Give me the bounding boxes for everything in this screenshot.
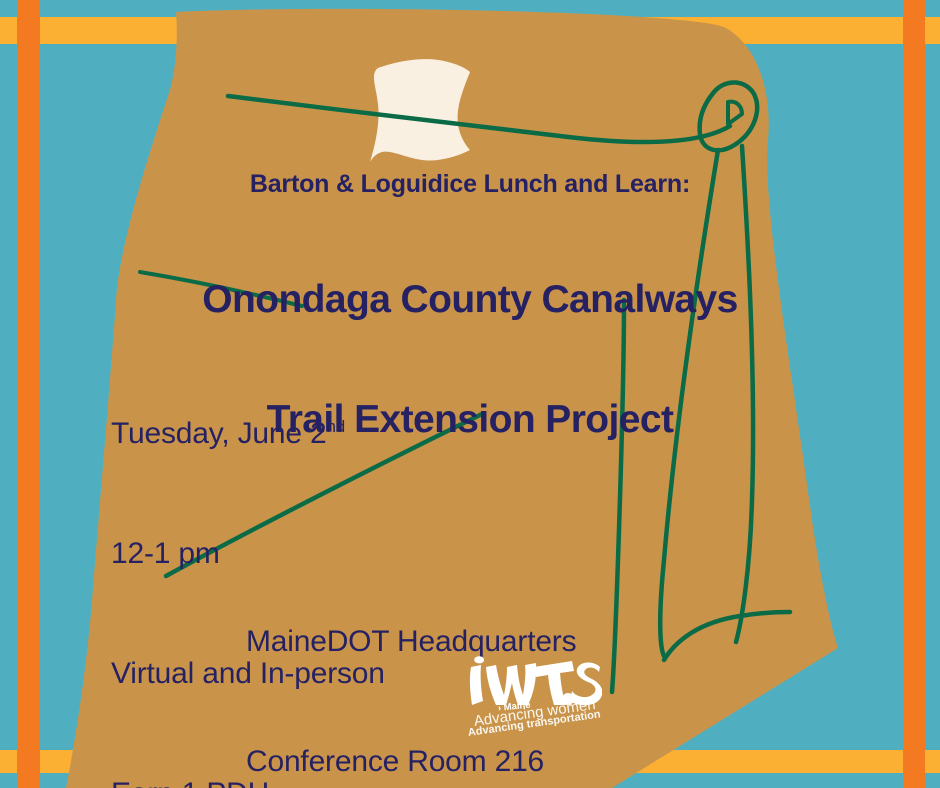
date-ordinal-suffix: nd [326, 417, 345, 436]
wts-maine-logo: › Maine Advancing women Advancing transp… [462, 655, 602, 755]
event-detail-date: Tuesday, June 2nd [111, 414, 385, 454]
flyer-canvas: Barton & Loguidice Lunch and Learn: Onon… [0, 0, 940, 788]
event-kicker: Barton & Loguidice Lunch and Learn: [0, 170, 940, 199]
paper-sheet [370, 59, 470, 162]
event-title-line-1: Onondaga County Canalways [0, 280, 940, 320]
